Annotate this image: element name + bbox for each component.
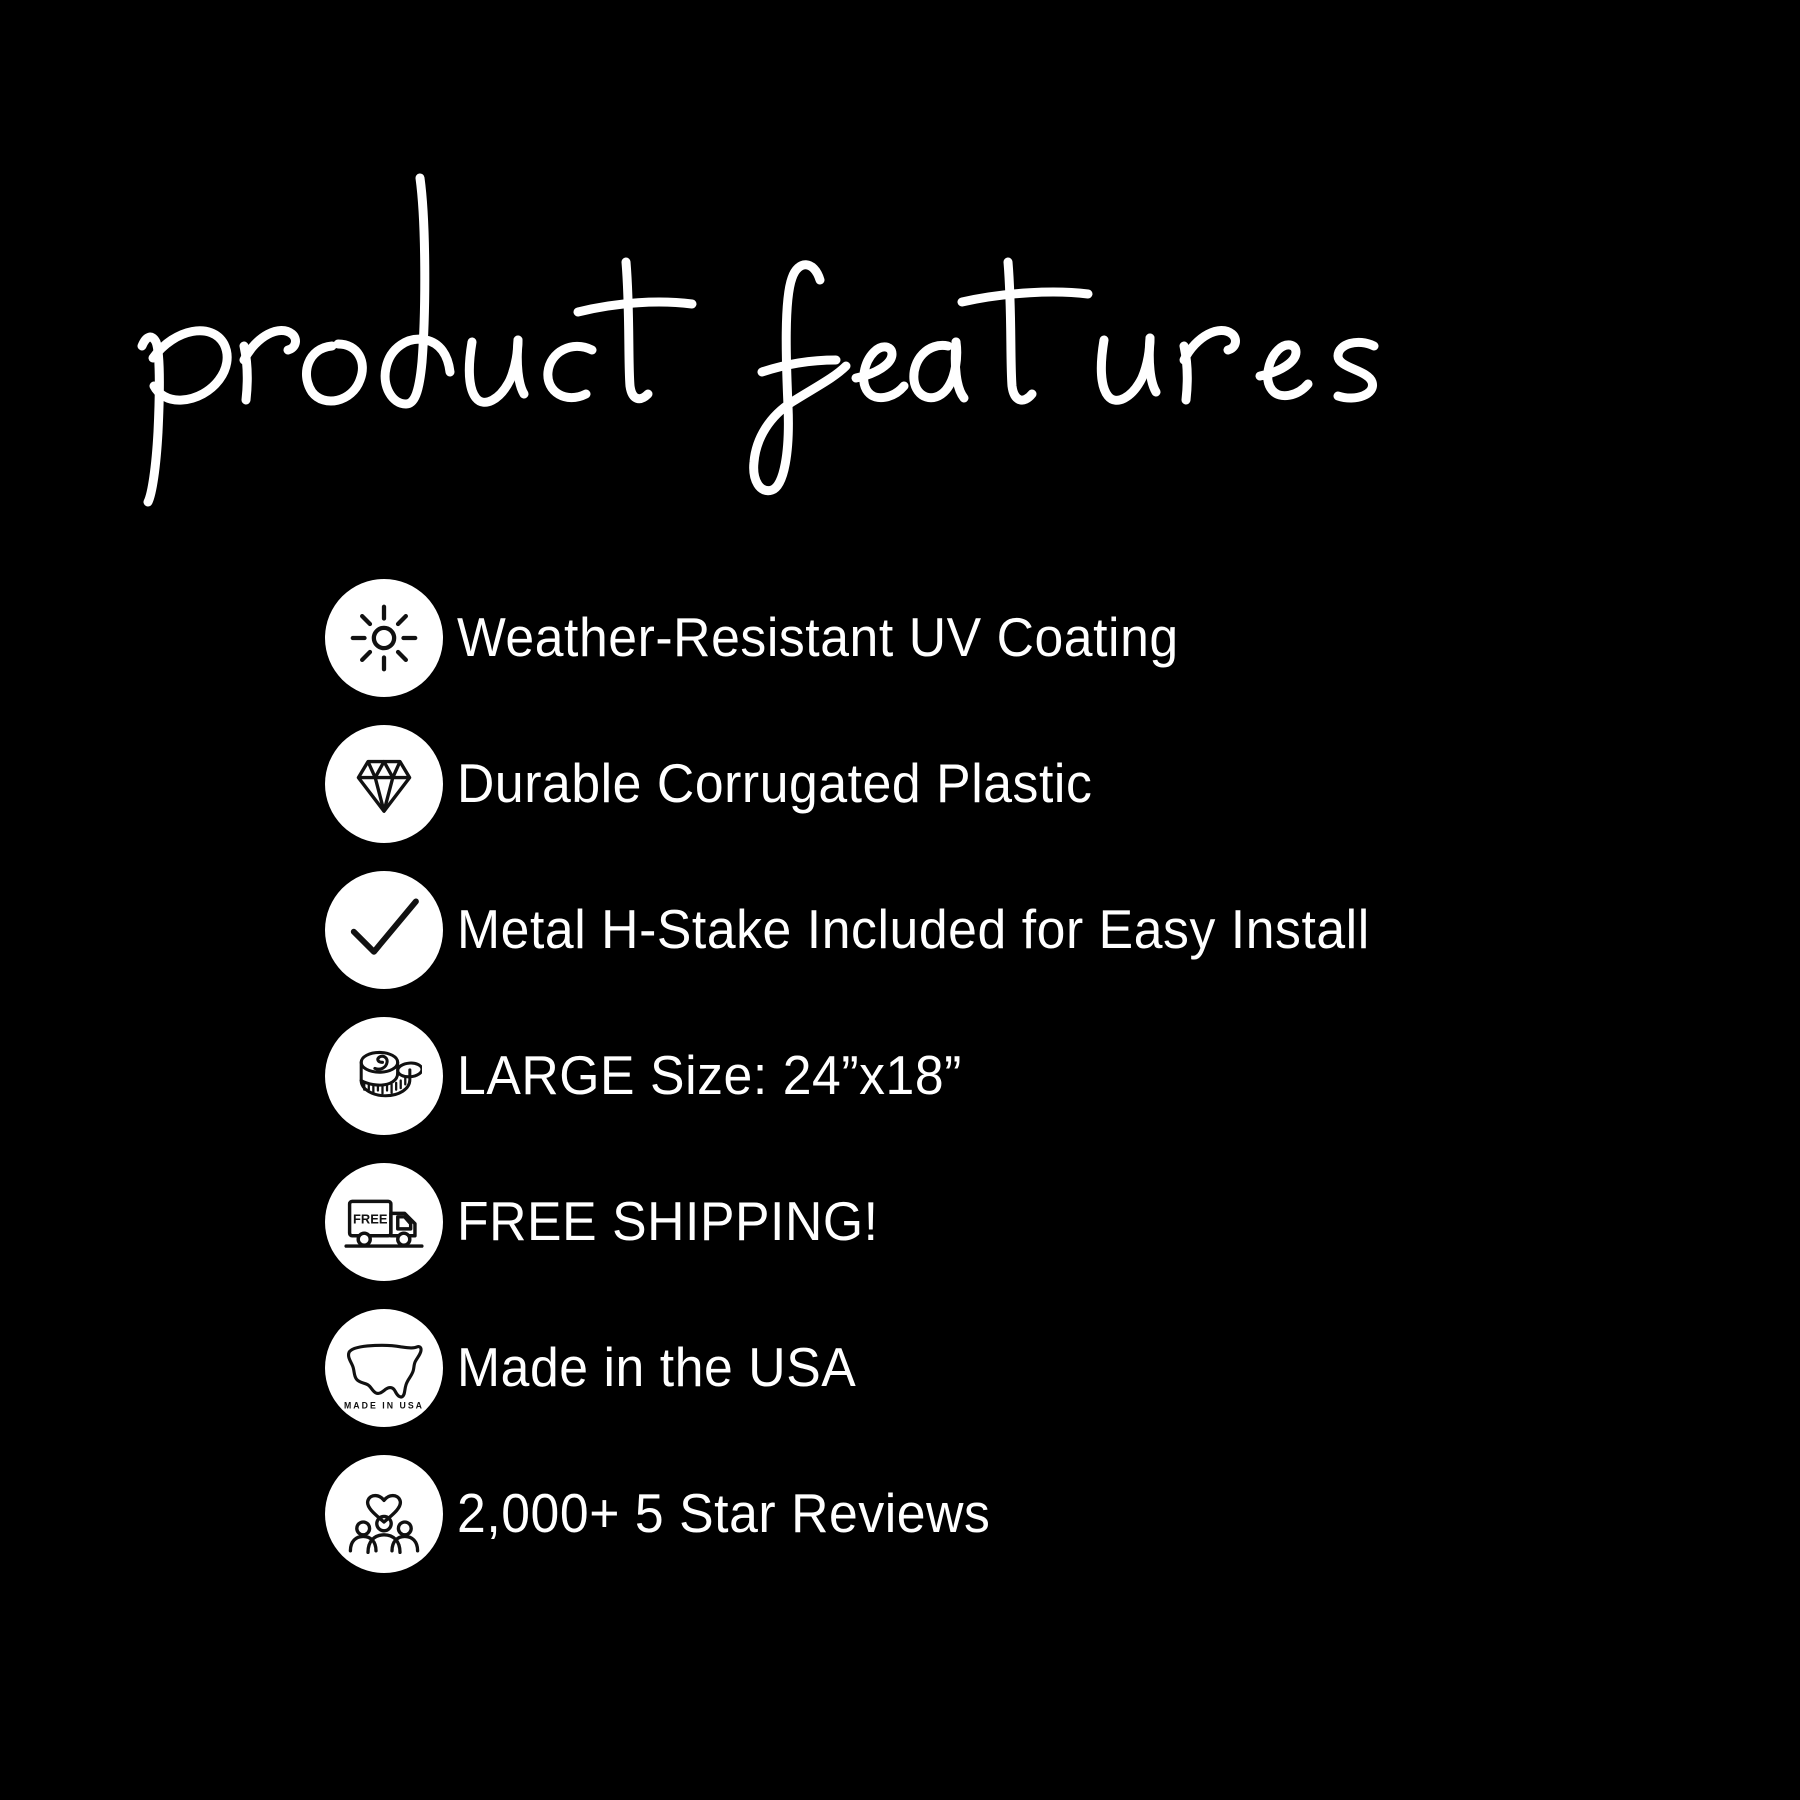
feature-label: Durable Corrugated Plastic <box>457 755 1092 813</box>
feature-item-h-stake: Metal H-Stake Included for Easy Install <box>325 870 1745 990</box>
checkmark-icon <box>325 871 443 989</box>
people-heart-icon <box>325 1455 443 1573</box>
made-in-usa-text: MADE IN USA <box>344 1400 424 1410</box>
measuring-tape-icon <box>325 1017 443 1135</box>
diamond-icon <box>325 725 443 843</box>
page-title-script-art <box>120 150 1680 510</box>
feature-item-free-shipping: FREE FREE SHIPPING! <box>325 1162 1745 1282</box>
sun-icon <box>325 579 443 697</box>
feature-list: Weather-Resistant UV Coating Durable Cor… <box>325 578 1745 1574</box>
product-features-poster: product features Weather-Resistant UV Co… <box>0 0 1800 1800</box>
truck-free-text: FREE <box>353 1212 388 1227</box>
feature-item-uv-coating: Weather-Resistant UV Coating <box>325 578 1745 698</box>
feature-item-reviews: 2,000+ 5 Star Reviews <box>325 1454 1745 1574</box>
feature-label: Weather-Resistant UV Coating <box>457 609 1179 667</box>
feature-item-made-in-usa: MADE IN USA Made in the USA <box>325 1308 1745 1428</box>
usa-map-icon: MADE IN USA <box>325 1309 443 1427</box>
feature-item-durable-plastic: Durable Corrugated Plastic <box>325 724 1745 844</box>
page-title: product features <box>0 150 1800 510</box>
feature-label: Metal H-Stake Included for Easy Install <box>457 901 1370 959</box>
feature-item-size: LARGE Size: 24”x18” <box>325 1016 1745 1136</box>
feature-label: FREE SHIPPING! <box>457 1193 879 1251</box>
feature-label: 2,000+ 5 Star Reviews <box>457 1485 990 1543</box>
feature-label: LARGE Size: 24”x18” <box>457 1047 962 1105</box>
feature-label: Made in the USA <box>457 1339 856 1397</box>
delivery-truck-icon: FREE <box>325 1163 443 1281</box>
